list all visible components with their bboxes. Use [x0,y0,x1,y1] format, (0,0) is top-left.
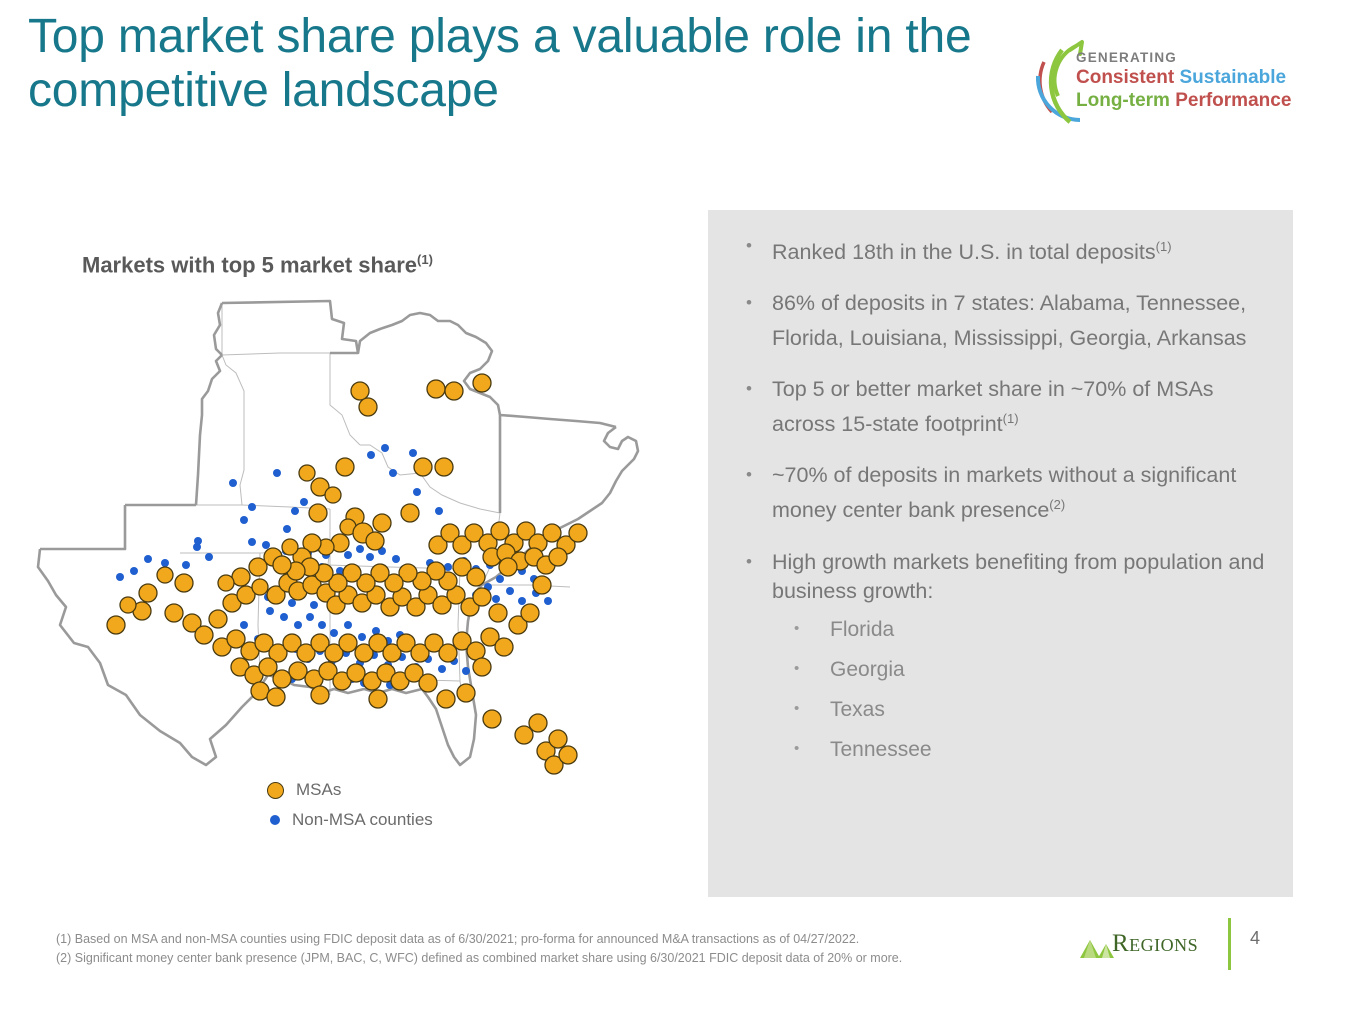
legend-label-msas: MSAs [296,780,341,800]
bullet-item: Top 5 or better market share in ~70% of … [738,375,1269,439]
footnotes: (1) Based on MSA and non-MSA counties us… [56,930,1056,968]
tagline-generating: GENERATING [1076,50,1291,66]
page-number: 4 [1250,928,1260,949]
tagline-text: GENERATING Consistent Sustainable Long-t… [1076,50,1291,112]
map-svg [30,295,690,775]
page-divider [1228,918,1231,970]
footnote-2: (2) Significant money center bank presen… [56,949,1056,968]
bullet-footnote-marker: (1) [1003,411,1019,426]
sub-bullet-item: Texas [772,690,1269,730]
map-legend: MSAs Non-MSA counties [245,775,433,835]
bullet-text: Top 5 or better market share in ~70% of … [772,377,1214,436]
tagline-long-term: Long-term [1076,90,1170,111]
bullet-text: High growth markets benefiting from popu… [772,550,1264,603]
footnote-1: (1) Based on MSA and non-MSA counties us… [56,930,1056,949]
tagline-consistent: Consistent [1076,67,1174,88]
legend-item-non-msa-counties: Non-MSA counties [245,805,433,835]
map-heading-text: Markets with top 5 market share [82,252,417,277]
growth-markets-sublist: Florida Georgia Texas Tennessee [772,610,1269,770]
tagline-performance: Performance [1175,90,1291,111]
tagline-logo: GENERATING Consistent Sustainable Long-t… [1018,28,1328,128]
slide: Top market share plays a valuable role i… [0,0,1365,1024]
sub-bullet-item: Florida [772,610,1269,650]
tagline-line-2: Consistent Sustainable [1076,66,1291,89]
bullet-footnote-marker: (1) [1156,239,1172,254]
page-title: Top market share plays a valuable role i… [28,10,988,118]
sub-bullet-item: Georgia [772,650,1269,690]
legend-label-non-msa: Non-MSA counties [292,810,433,830]
bullet-text: 86% of deposits in 7 states: Alabama, Te… [772,291,1246,350]
tagline-line-3: Long-term Performance [1076,89,1291,112]
bullet-item: ~70% of deposits in markets without a si… [738,461,1269,525]
bullet-text: ~70% of deposits in markets without a si… [772,463,1236,522]
regions-wordmark: Regions [1112,930,1198,958]
bullet-item: Ranked 18th in the U.S. in total deposit… [738,232,1269,267]
bullet-text: Ranked 18th in the U.S. in total deposit… [772,240,1156,264]
sub-bullet-item: Tennessee [772,730,1269,770]
map-heading-footnote-marker: (1) [417,252,433,267]
tagline-sustainable: Sustainable [1179,67,1286,88]
msa-circles [107,374,587,774]
highlights-list: Ranked 18th in the U.S. in total deposit… [708,210,1293,770]
highlights-panel: Ranked 18th in the U.S. in total deposit… [708,210,1293,897]
legend-item-msas: MSAs [245,775,433,805]
bullet-footnote-marker: (2) [1049,497,1065,512]
map-panel: Markets with top 5 market share(1) [30,200,690,890]
non-msa-dot-icon [270,815,280,825]
market-share-map [30,295,690,775]
bullet-item: High growth markets benefiting from popu… [738,548,1269,770]
bullet-item: 86% of deposits in 7 states: Alabama, Te… [738,289,1269,353]
map-heading: Markets with top 5 market share(1) [82,252,433,278]
msa-circle-icon [267,782,284,799]
